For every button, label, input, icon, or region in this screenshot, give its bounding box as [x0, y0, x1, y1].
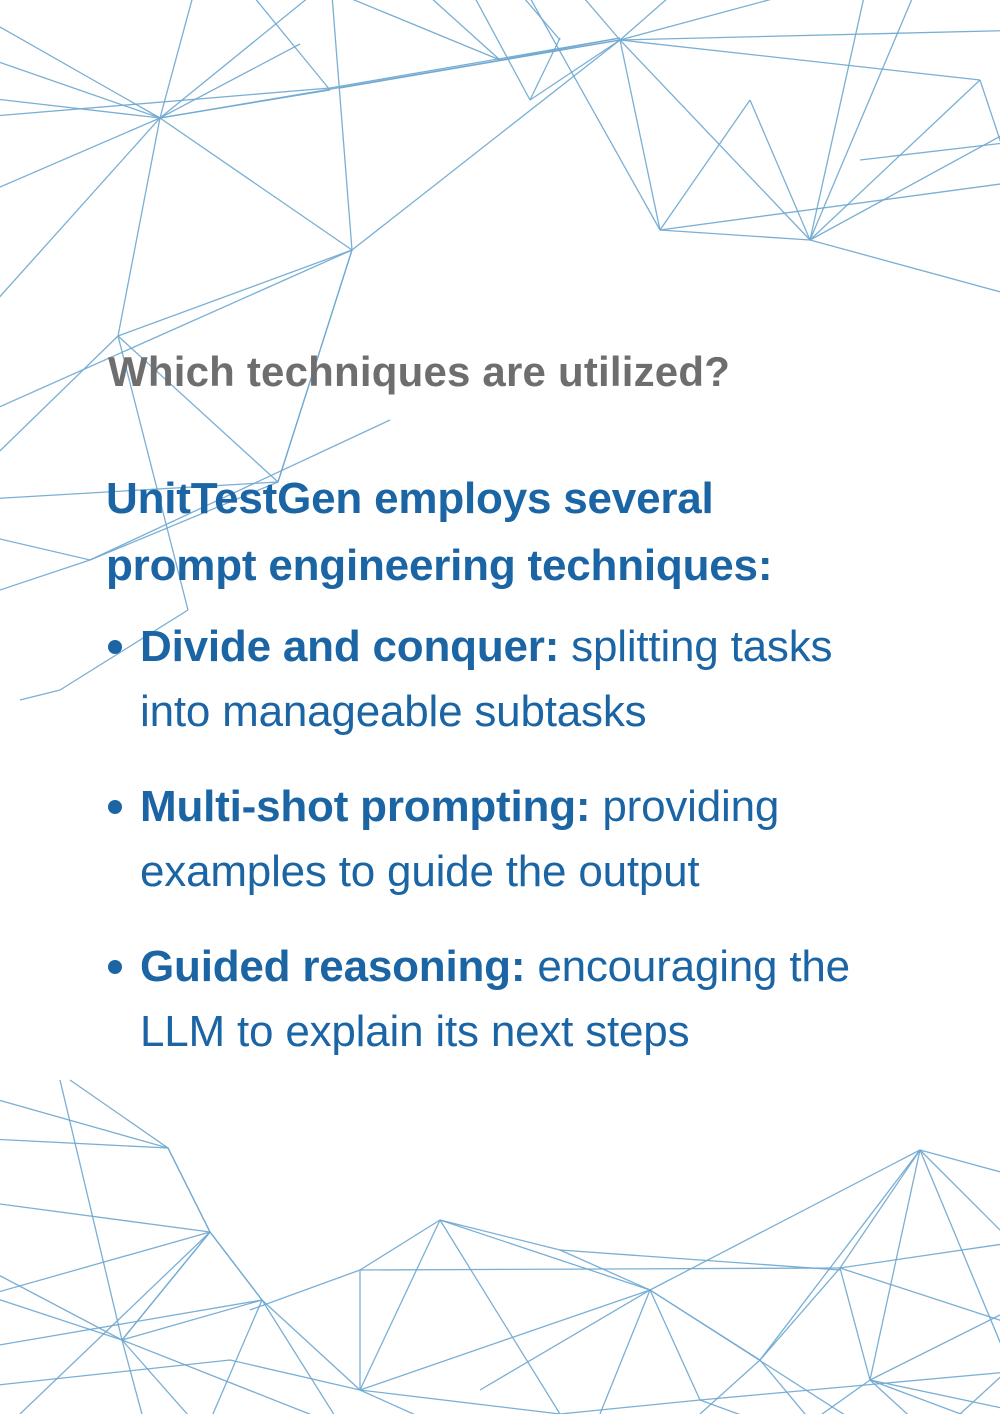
list-item-lead: Guided reasoning: — [140, 942, 525, 991]
techniques-list: Divide and conquer: splitting tasks into… — [106, 614, 906, 1065]
list-item: Divide and conquer: splitting tasks into… — [106, 614, 906, 744]
page-title: Which techniques are utilized? — [108, 348, 730, 395]
intro-line-2: prompt engineering techniques: — [106, 533, 906, 600]
bullet-dot-icon — [108, 800, 122, 814]
slide-content: Which techniques are utilized? UnitTestG… — [0, 0, 1000, 1414]
list-item-lead: Multi-shot prompting: — [140, 782, 590, 831]
body-content: UnitTestGen employs several prompt engin… — [106, 466, 906, 1064]
slide-canvas: Which techniques are utilized? UnitTestG… — [0, 0, 1000, 1414]
bullet-dot-icon — [108, 640, 122, 654]
list-item-text: Guided reasoning: encouraging the LLM to… — [140, 934, 906, 1064]
list-item-lead: Divide and conquer: — [140, 622, 559, 671]
list-item-text: Divide and conquer: splitting tasks into… — [140, 614, 906, 744]
list-item: Multi-shot prompting: providing examples… — [106, 774, 906, 904]
list-item-text: Multi-shot prompting: providing examples… — [140, 774, 906, 904]
intro-line-1: UnitTestGen employs several — [106, 466, 906, 533]
list-item: Guided reasoning: encouraging the LLM to… — [106, 934, 906, 1064]
intro-paragraph: UnitTestGen employs several prompt engin… — [106, 466, 906, 600]
bullet-dot-icon — [108, 960, 122, 974]
